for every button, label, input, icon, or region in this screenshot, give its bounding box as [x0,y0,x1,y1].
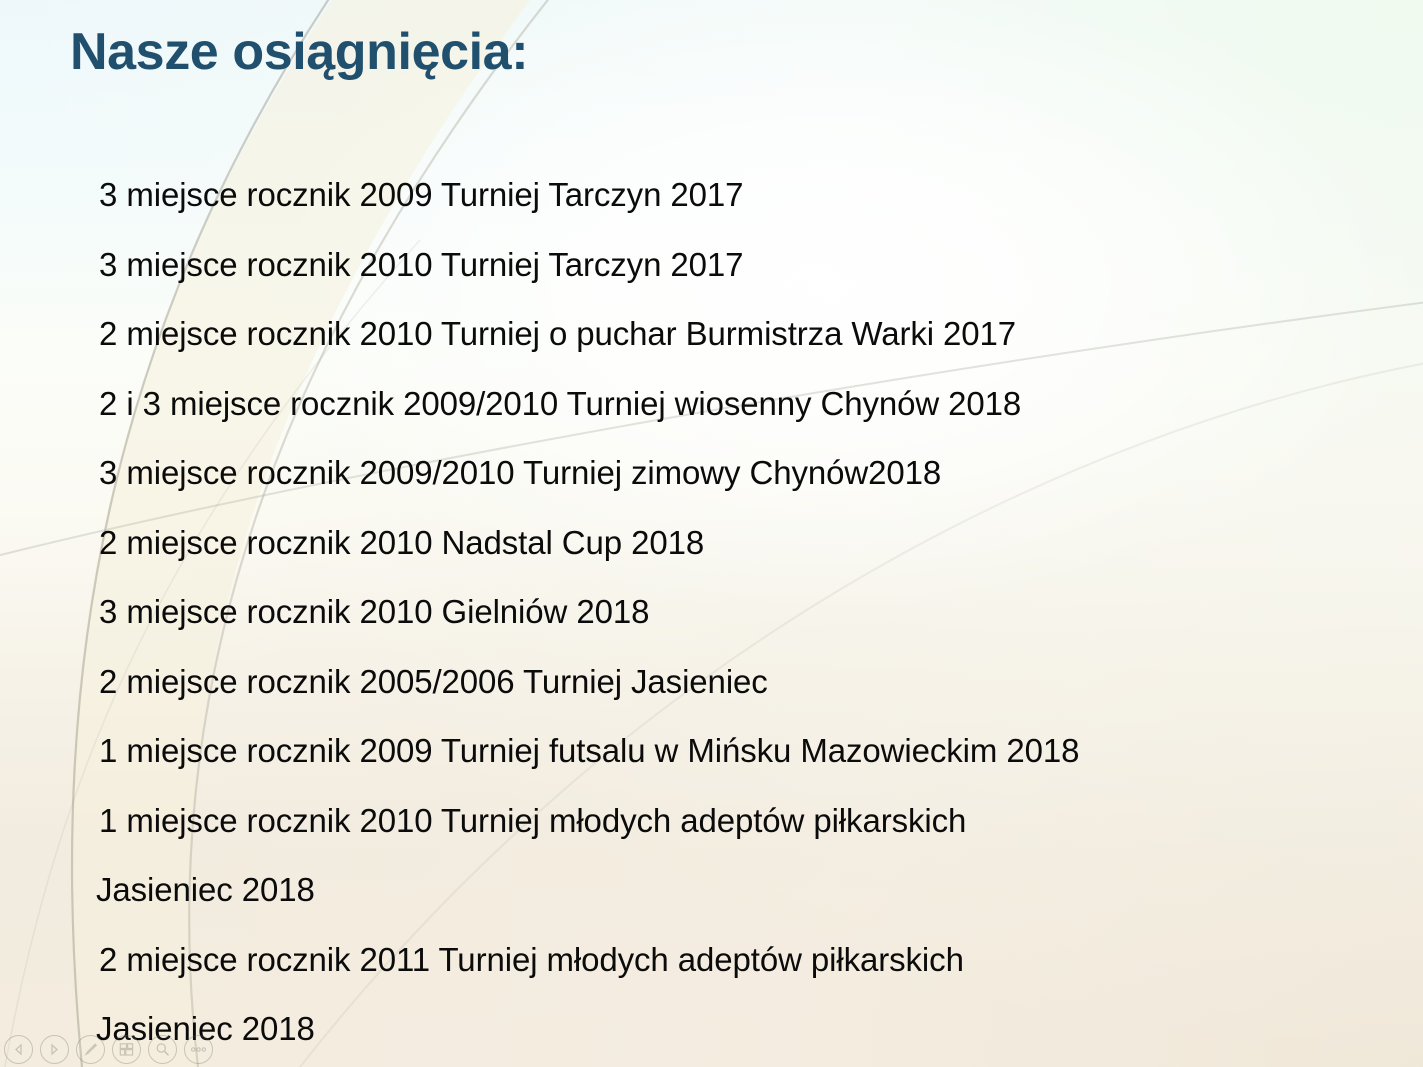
previous-slide-icon [12,1043,25,1056]
list-item: 2 i 3 miejsce rocznik 2009/2010 Turniej … [99,369,1359,439]
list-item: 1 miejsce rocznik 2009 Turniej futsalu w… [99,716,1359,786]
all-slides-button[interactable] [112,1035,141,1064]
zoom-icon [154,1041,171,1058]
presentation-slide: Nasze osiągnięcia: 3 miejsce rocznik 200… [0,0,1423,1067]
list-item: 3 miejsce rocznik 2009/2010 Turniej zimo… [99,438,1359,508]
zoom-slide-button[interactable] [148,1035,177,1064]
previous-slide-button[interactable] [4,1035,33,1064]
list-item: 3 miejsce rocznik 2009 Turniej Tarczyn 2… [99,160,1359,230]
more-options-icon [189,1045,208,1054]
page-title: Nasze osiągnięcia: [70,22,528,82]
more-options-button[interactable] [184,1035,213,1064]
all-slides-icon [118,1041,135,1058]
achievements-list: 3 miejsce rocznik 2009 Turniej Tarczyn 2… [99,160,1359,1064]
pen-tools-button[interactable] [76,1035,105,1064]
next-slide-button[interactable] [40,1035,69,1064]
list-item: 3 miejsce rocznik 2010 Gielniów 2018 [99,577,1359,647]
list-item-continuation: Jasieniec 2018 [96,855,1359,925]
list-item: 1 miejsce rocznik 2010 Turniej młodych a… [99,786,1359,856]
list-item-continuation: Jasieniec 2018 [96,994,1359,1064]
pen-icon [82,1041,99,1058]
next-slide-icon [48,1043,61,1056]
list-item: 2 miejsce rocznik 2011 Turniej młodych a… [99,925,1359,995]
presenter-controls-toolbar [4,1035,213,1064]
list-item: 2 miejsce rocznik 2005/2006 Turniej Jasi… [99,647,1359,717]
list-item: 3 miejsce rocznik 2010 Turniej Tarczyn 2… [99,230,1359,300]
list-item: 2 miejsce rocznik 2010 Nadstal Cup 2018 [99,508,1359,578]
list-item: 2 miejsce rocznik 2010 Turniej o puchar … [99,299,1359,369]
